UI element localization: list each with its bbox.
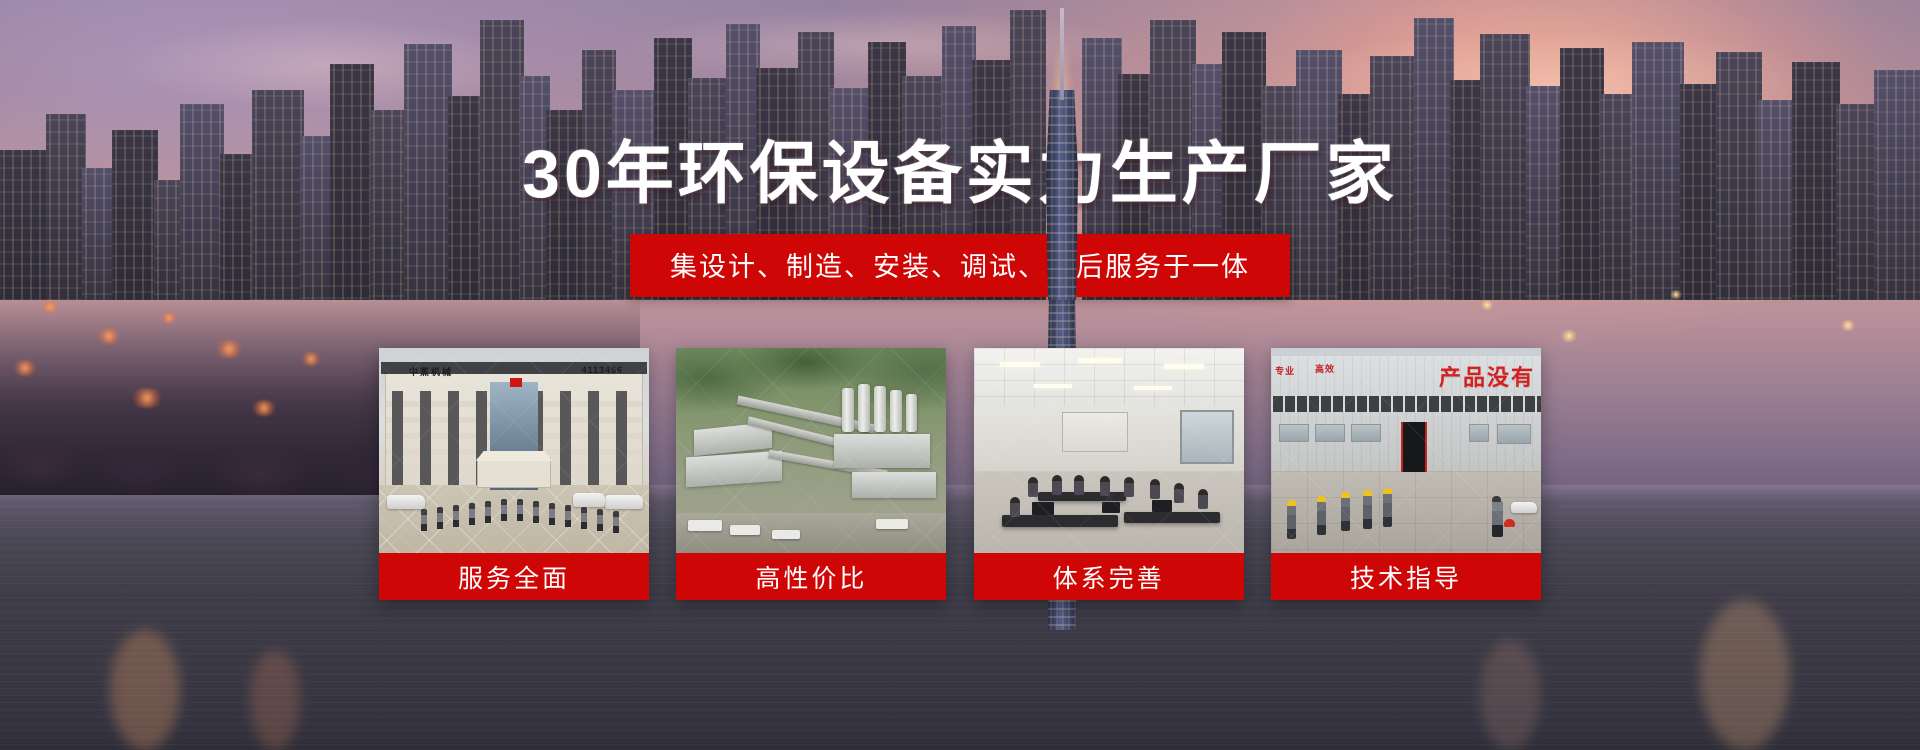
subtitle-badge: 集设计、制造、安装、调试、售后服务于一体 (630, 234, 1290, 297)
card-caption-system: 体系完善 (974, 553, 1244, 600)
card-photo-factory-workshop-workers-briefing: 产品没有 专业 高效 (1271, 348, 1541, 553)
feature-card-list: 中蒸机械 4113456 (379, 348, 1541, 600)
subtitle-text: 集设计、制造、安装、调试、售后服务于一体 (670, 245, 1250, 284)
card-caption-value: 高性价比 (676, 553, 946, 600)
workshop-banner-small-text-2: 高效 (1315, 364, 1335, 375)
feature-card-service[interactable]: 中蒸机械 4113456 (379, 348, 649, 600)
feature-card-system[interactable]: 体系完善 (974, 348, 1244, 600)
card-photo-office-meeting-room-with-team (974, 348, 1244, 553)
card-photo-aerial-view-of-factory-plant (676, 348, 946, 553)
hero-banner: 30年环保设备实力生产厂家 集设计、制造、安装、调试、售后服务于一体 中蒸机械 … (0, 0, 1920, 750)
feature-card-guidance[interactable]: 产品没有 专业 高效 (1271, 348, 1541, 600)
card-photo-company-office-building-with-staff: 中蒸机械 4113456 (379, 348, 649, 553)
feature-card-value[interactable]: 高性价比 (676, 348, 946, 600)
card-caption-guidance: 技术指导 (1271, 553, 1541, 600)
workshop-banner-small-text-1: 专业 (1275, 366, 1295, 377)
card-caption-text: 高性价比 (755, 559, 867, 595)
flag-icon (510, 378, 522, 387)
card-caption-service: 服务全面 (379, 553, 649, 600)
card-caption-text: 体系完善 (1053, 559, 1165, 595)
office-building-phone-text: 4113456 (581, 365, 623, 375)
workshop-banner-main-text: 产品没有 (1439, 360, 1535, 392)
page-title: 30年环保设备实力生产厂家 (0, 118, 1920, 217)
card-caption-text: 技术指导 (1350, 559, 1462, 595)
office-building-sign-text: 中蒸机械 (409, 365, 453, 378)
card-caption-text: 服务全面 (458, 559, 570, 595)
red-helmet-icon (1504, 519, 1515, 527)
